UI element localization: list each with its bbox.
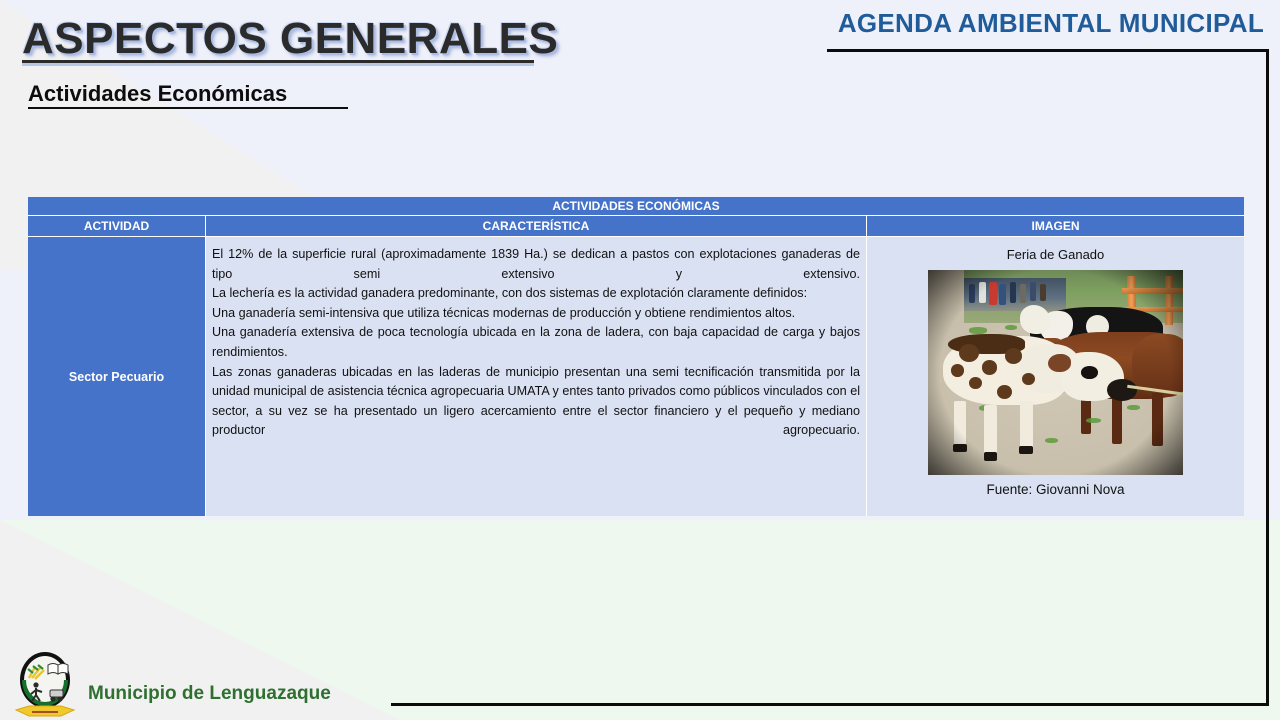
cattle-fair-photo <box>928 270 1183 475</box>
table-row: Sector Pecuario El 12% de la superficie … <box>28 236 1244 516</box>
escudo-municipal-icon <box>12 650 78 718</box>
page-title-underline <box>22 60 534 63</box>
cell-image: Feria de Ganado <box>867 236 1244 516</box>
image-caption-source: Fuente: Giovanni Nova <box>986 482 1124 497</box>
characteristic-paragraph-1: El 12% de la superficie rural (aproximad… <box>212 245 860 284</box>
cell-characteristic: El 12% de la superficie rural (aproximad… <box>206 236 867 516</box>
page-title: ASPECTOS GENERALES <box>22 14 558 64</box>
slide-canvas: AGENDA AMBIENTAL MUNICIPAL ASPECTOS GENE… <box>0 0 1280 720</box>
economic-activities-table: ACTIVIDADES ECONÓMICAS ACTIVIDAD CARACTE… <box>28 197 1244 516</box>
column-header-imagen: IMAGEN <box>867 216 1244 236</box>
frame-bottom-line <box>391 703 1269 706</box>
cell-activity-name: Sector Pecuario <box>28 236 206 516</box>
table-title-row: ACTIVIDADES ECONÓMICAS <box>28 197 1244 216</box>
characteristic-paragraph-5: Las zonas ganaderas ubicadas en las lade… <box>212 363 860 441</box>
image-caption-top: Feria de Ganado <box>1007 247 1105 262</box>
characteristic-paragraph-3: Una ganadería semi-intensiva que utiliza… <box>212 304 860 324</box>
frame-top-line <box>827 49 1269 52</box>
page-subtitle-underline <box>28 107 348 109</box>
frame-right-line <box>1266 49 1269 706</box>
table-header-row: ACTIVIDAD CARACTERÍSTICA IMAGEN <box>28 216 1244 236</box>
footer-municipality-label: Municipio de Lenguazaque <box>88 683 331 705</box>
page-subtitle: Actividades Económicas <box>28 81 287 107</box>
column-header-caracteristica: CARACTERÍSTICA <box>206 216 867 236</box>
characteristic-paragraph-4: Una ganadería extensiva de poca tecnolog… <box>212 323 860 362</box>
characteristic-paragraph-2: La lechería es la actividad ganadera pre… <box>212 284 860 304</box>
agenda-title: AGENDA AMBIENTAL MUNICIPAL <box>838 8 1264 39</box>
column-header-actividad: ACTIVIDAD <box>28 216 206 236</box>
